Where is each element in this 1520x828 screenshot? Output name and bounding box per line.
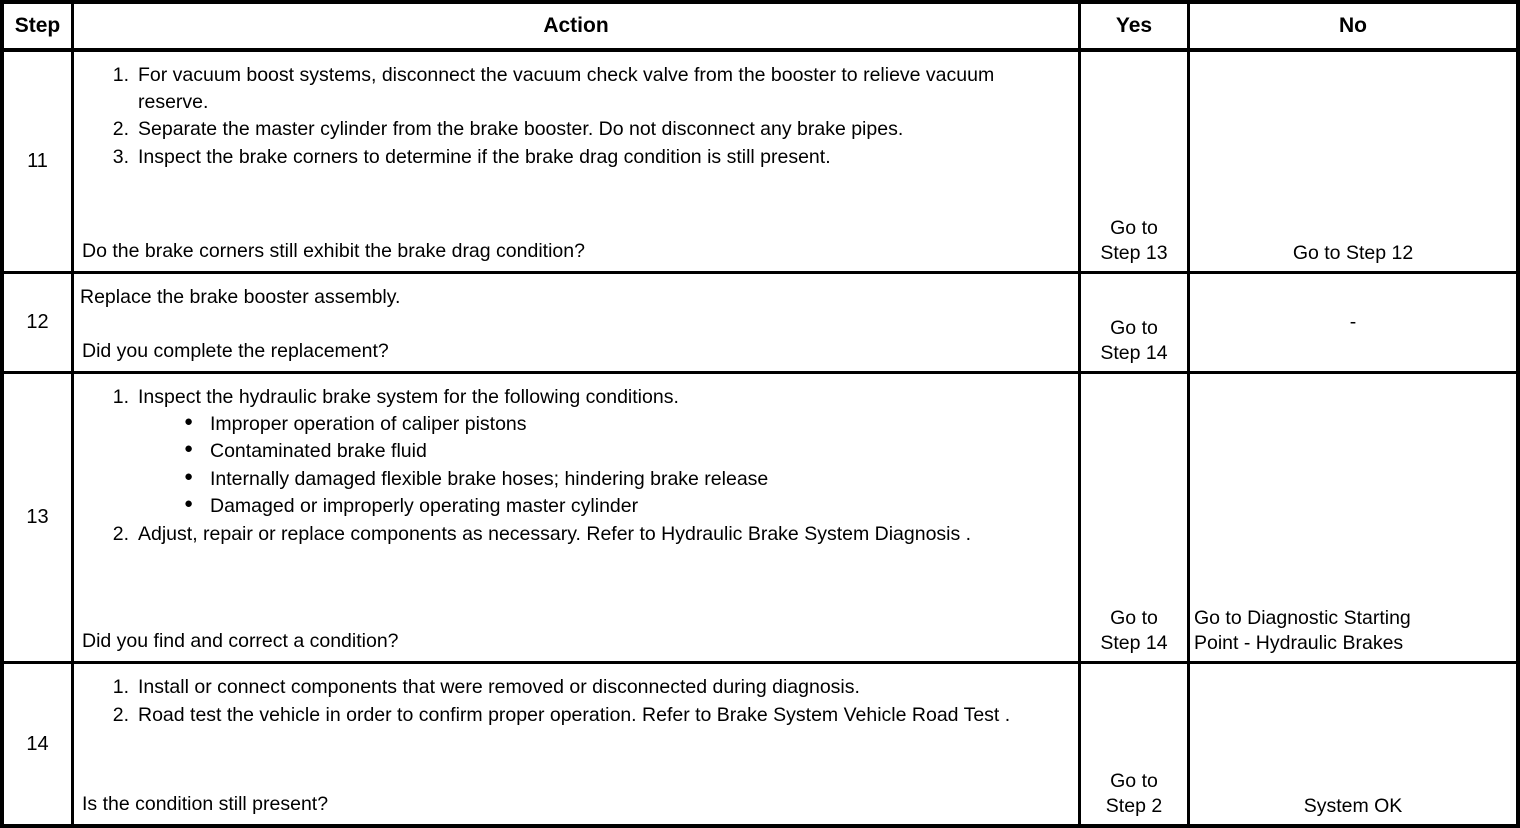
list-item: Install or connect components that were … bbox=[138, 674, 1070, 701]
diagnostic-table: Step Action Yes No 11 For vacuum boost s… bbox=[0, 0, 1520, 828]
list-item: Improper operation of caliper pistons bbox=[210, 411, 1070, 438]
column-header-no: No bbox=[1190, 4, 1516, 48]
yes-cell: Go to Step 14 bbox=[1081, 274, 1190, 371]
no-cell: - bbox=[1190, 274, 1516, 371]
yes-text-line-1: Go to bbox=[1110, 216, 1158, 240]
condition-bullet-list: Improper operation of caliper pistons Co… bbox=[138, 411, 1070, 520]
table-header-row: Step Action Yes No bbox=[4, 4, 1516, 52]
list-item: Road test the vehicle in order to confir… bbox=[138, 702, 1070, 729]
table-row: 13 Inspect the hydraulic brake system fo… bbox=[4, 374, 1516, 664]
no-cell: Go to Step 12 bbox=[1190, 52, 1516, 271]
action-question: Did you find and correct a condition? bbox=[80, 628, 1070, 655]
no-text-line-1: Go to Diagnostic Starting bbox=[1194, 606, 1411, 630]
yes-text-line-2: Step 13 bbox=[1100, 241, 1167, 265]
yes-text-line-1: Go to bbox=[1110, 769, 1158, 793]
action-step-list: Inspect the hydraulic brake system for t… bbox=[80, 384, 1070, 548]
list-item: Inspect the brake corners to determine i… bbox=[138, 144, 1070, 171]
spacer bbox=[80, 171, 1070, 238]
list-item: For vacuum boost systems, disconnect the… bbox=[138, 62, 1070, 115]
action-cell: For vacuum boost systems, disconnect the… bbox=[74, 52, 1081, 271]
no-text-line-1: Go to Step 12 bbox=[1293, 241, 1413, 265]
yes-text-line-2: Step 14 bbox=[1100, 631, 1167, 655]
action-cell: Install or connect components that were … bbox=[74, 664, 1081, 824]
step-number: 11 bbox=[4, 52, 74, 271]
no-cell: Go to Diagnostic Starting Point - Hydrau… bbox=[1190, 374, 1516, 661]
no-cell: System OK bbox=[1190, 664, 1516, 824]
spacer bbox=[80, 729, 1070, 791]
list-item: Separate the master cylinder from the br… bbox=[138, 116, 1070, 143]
step-number: 13 bbox=[4, 374, 74, 661]
table-row: 14 Install or connect components that we… bbox=[4, 664, 1516, 824]
list-item-text: Inspect the hydraulic brake system for t… bbox=[138, 386, 679, 408]
action-cell: Replace the brake booster assembly. Did … bbox=[74, 274, 1081, 371]
action-step-list: Install or connect components that were … bbox=[80, 674, 1070, 729]
column-header-yes: Yes bbox=[1081, 4, 1190, 48]
action-cell: Inspect the hydraulic brake system for t… bbox=[74, 374, 1081, 661]
yes-text-line-2: Step 14 bbox=[1100, 341, 1167, 365]
action-question: Is the condition still present? bbox=[80, 791, 1070, 818]
list-item: Inspect the hydraulic brake system for t… bbox=[138, 384, 1070, 520]
yes-cell: Go to Step 14 bbox=[1081, 374, 1190, 661]
action-statement: Replace the brake booster assembly. bbox=[80, 284, 1070, 311]
column-header-action: Action bbox=[74, 4, 1081, 48]
yes-text-line-1: Go to bbox=[1110, 606, 1158, 630]
action-question: Did you complete the replacement? bbox=[80, 338, 1070, 365]
action-step-list: For vacuum boost systems, disconnect the… bbox=[80, 62, 1070, 171]
list-item: Damaged or improperly operating master c… bbox=[210, 493, 1070, 520]
column-header-step: Step bbox=[4, 4, 74, 48]
yes-cell: Go to Step 13 bbox=[1081, 52, 1190, 271]
table-row: 12 Replace the brake booster assembly. D… bbox=[4, 274, 1516, 374]
spacer bbox=[80, 548, 1070, 628]
spacer bbox=[80, 311, 1070, 339]
no-text-line-1: System OK bbox=[1304, 794, 1403, 818]
list-item: Contaminated brake fluid bbox=[210, 438, 1070, 465]
action-question: Do the brake corners still exhibit the b… bbox=[80, 238, 1070, 265]
yes-text-line-2: Step 2 bbox=[1106, 794, 1162, 818]
table-row: 11 For vacuum boost systems, disconnect … bbox=[4, 52, 1516, 274]
no-text-line-2: Point - Hydraulic Brakes bbox=[1194, 631, 1403, 655]
yes-cell: Go to Step 2 bbox=[1081, 664, 1190, 824]
step-number: 14 bbox=[4, 664, 74, 824]
no-text-line-1: - bbox=[1350, 310, 1357, 334]
list-item: Internally damaged flexible brake hoses;… bbox=[210, 466, 1070, 493]
yes-text-line-1: Go to bbox=[1110, 316, 1158, 340]
list-item: Adjust, repair or replace components as … bbox=[138, 521, 1070, 548]
step-number: 12 bbox=[4, 274, 74, 371]
